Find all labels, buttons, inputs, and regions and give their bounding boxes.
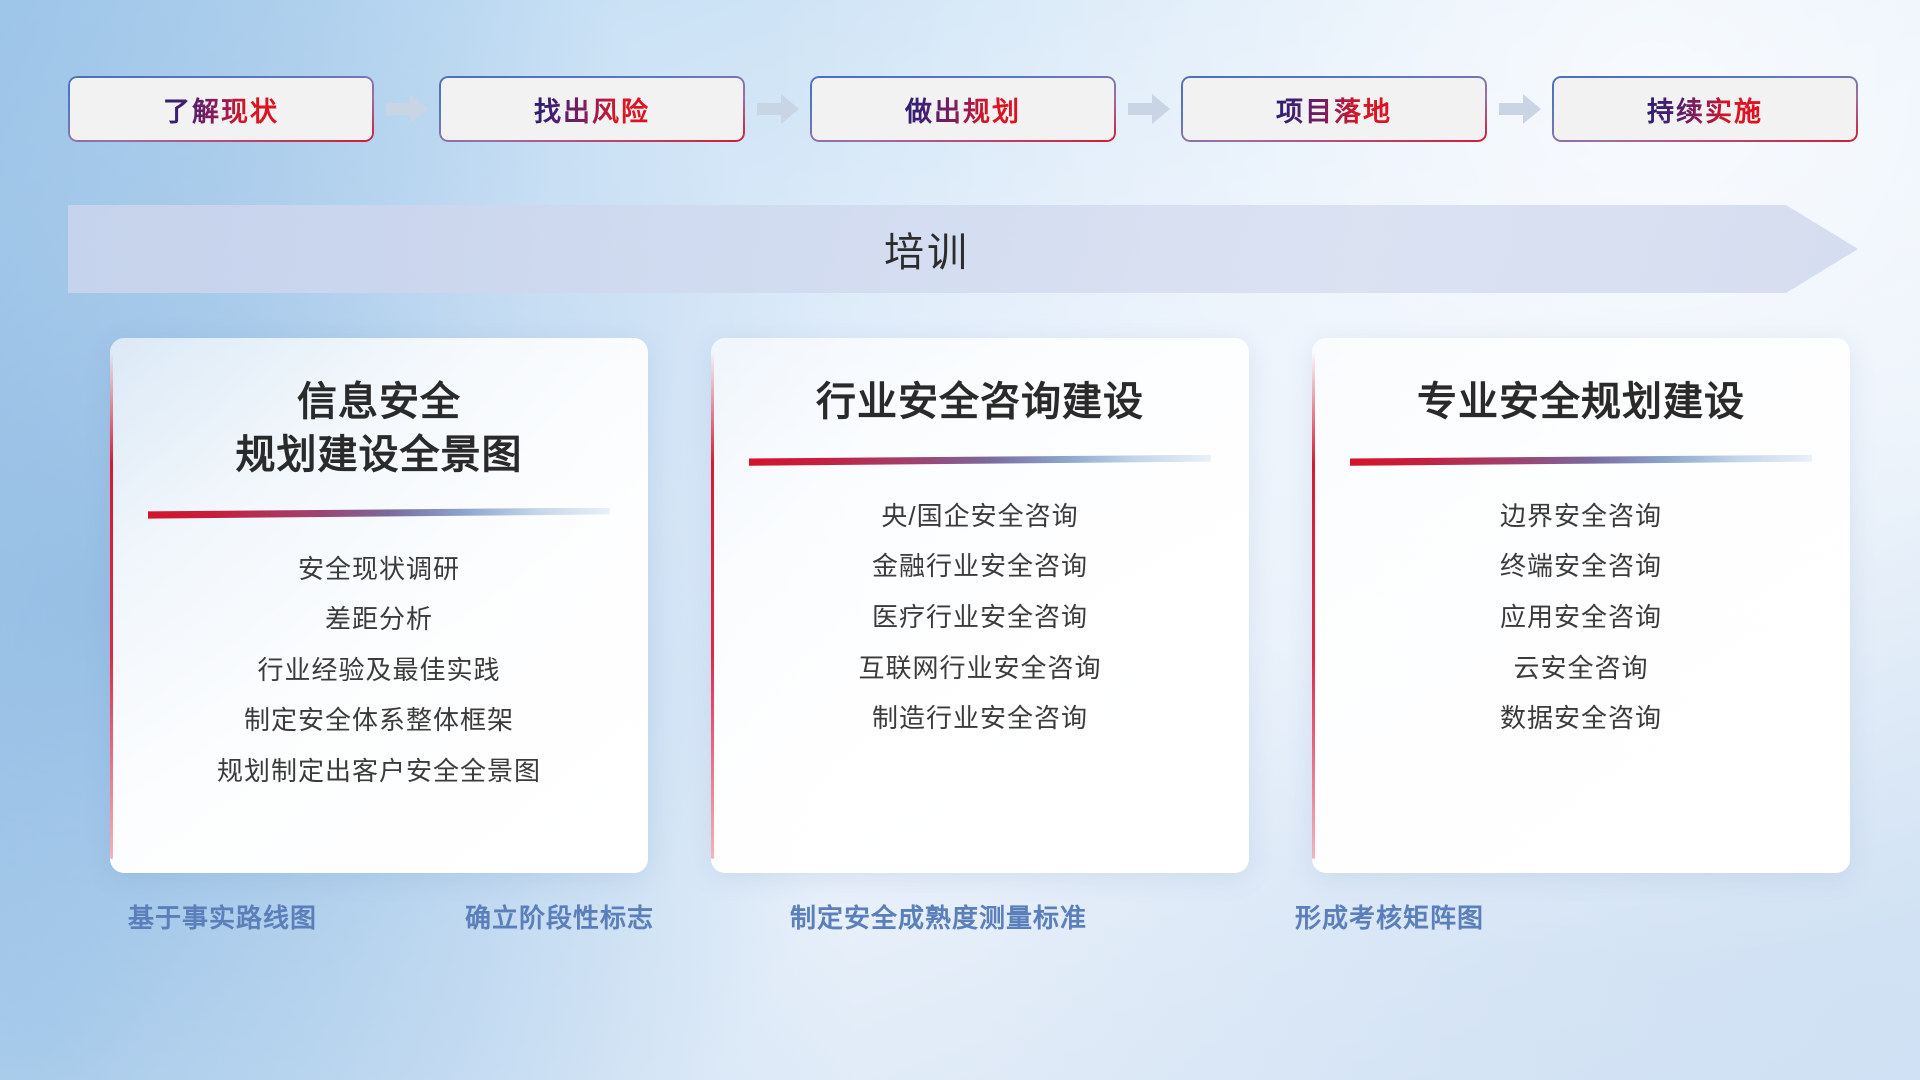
footnote-4: 形成考核矩阵图 (1295, 898, 1484, 935)
card-divider (749, 455, 1211, 466)
list-item: 数据安全咨询 (1500, 698, 1662, 740)
card-industry-security-consulting[interactable]: 行业安全咨询建设 央/国企安全咨询 金融行业安全咨询 医疗行业安全咨询 互联网行… (711, 338, 1249, 873)
list-item: 医疗行业安全咨询 (872, 597, 1088, 639)
card-divider (148, 508, 610, 519)
card-row: 信息安全 规划建设全景图 安全现状调研 差距分析 行业经验及最佳实践 制定安全体… (110, 338, 1850, 873)
slide-canvas: 了解现状 找出风险 做出规划 项目落地 (0, 0, 1920, 1080)
list-item: 应用安全咨询 (1500, 597, 1662, 639)
footnote-row: 基于事实路线图 确立阶段性标志 制定安全成熟度测量标准 形成考核矩阵图 (0, 898, 1920, 946)
list-item: 央/国企安全咨询 (881, 496, 1078, 538)
footnote-1: 基于事实路线图 (128, 898, 317, 935)
step-label-1: 了解现状 (163, 90, 279, 129)
step-box-2[interactable]: 找出风险 (439, 76, 745, 142)
step-box-5[interactable]: 持续实施 (1552, 76, 1858, 142)
list-item: 安全现状调研 (298, 549, 460, 591)
card-info-security-blueprint[interactable]: 信息安全 规划建设全景图 安全现状调研 差距分析 行业经验及最佳实践 制定安全体… (110, 338, 648, 873)
step-box-3[interactable]: 做出规划 (810, 76, 1116, 142)
card-title: 专业安全规划建设 (1346, 376, 1816, 429)
step-label-2: 找出风险 (534, 90, 650, 129)
card-professional-security-planning[interactable]: 专业安全规划建设 边界安全咨询 终端安全咨询 应用安全咨询 云安全咨询 数据安全… (1312, 338, 1850, 873)
card-divider (1350, 455, 1812, 466)
list-item: 行业经验及最佳实践 (257, 650, 500, 692)
list-item: 云安全咨询 (1513, 648, 1648, 690)
step-box-4[interactable]: 项目落地 (1181, 76, 1487, 142)
step-arrow-1 (374, 76, 439, 142)
list-item: 制定安全体系整体框架 (244, 700, 514, 742)
process-steps: 了解现状 找出风险 做出规划 项目落地 (68, 76, 1858, 142)
list-item: 边界安全咨询 (1500, 496, 1662, 538)
list-item: 制造行业安全咨询 (872, 698, 1088, 740)
card-title: 行业安全咨询建设 (745, 376, 1215, 429)
footnote-3: 制定安全成熟度测量标准 (790, 898, 1087, 935)
footnote-2: 确立阶段性标志 (465, 898, 654, 935)
step-label-3: 做出规划 (905, 90, 1021, 129)
list-item: 差距分析 (325, 599, 433, 641)
card-list: 安全现状调研 差距分析 行业经验及最佳实践 制定安全体系整体框架 规划制定出客户… (144, 549, 614, 793)
list-item: 金融行业安全咨询 (872, 546, 1088, 588)
training-banner: 培训 (68, 205, 1858, 293)
card-title: 信息安全 规划建设全景图 (144, 376, 614, 482)
step-box-1[interactable]: 了解现状 (68, 76, 374, 142)
step-label-4: 项目落地 (1276, 90, 1392, 129)
card-list: 央/国企安全咨询 金融行业安全咨询 医疗行业安全咨询 互联网行业安全咨询 制造行… (745, 496, 1215, 740)
step-arrow-3 (1116, 76, 1181, 142)
banner-label: 培训 (68, 205, 1786, 293)
list-item: 互联网行业安全咨询 (858, 648, 1101, 690)
card-list: 边界安全咨询 终端安全咨询 应用安全咨询 云安全咨询 数据安全咨询 (1346, 496, 1816, 740)
step-arrow-2 (745, 76, 810, 142)
step-label-5: 持续实施 (1647, 90, 1763, 129)
list-item: 终端安全咨询 (1500, 546, 1662, 588)
step-arrow-4 (1487, 76, 1552, 142)
list-item: 规划制定出客户安全全景图 (217, 751, 541, 793)
